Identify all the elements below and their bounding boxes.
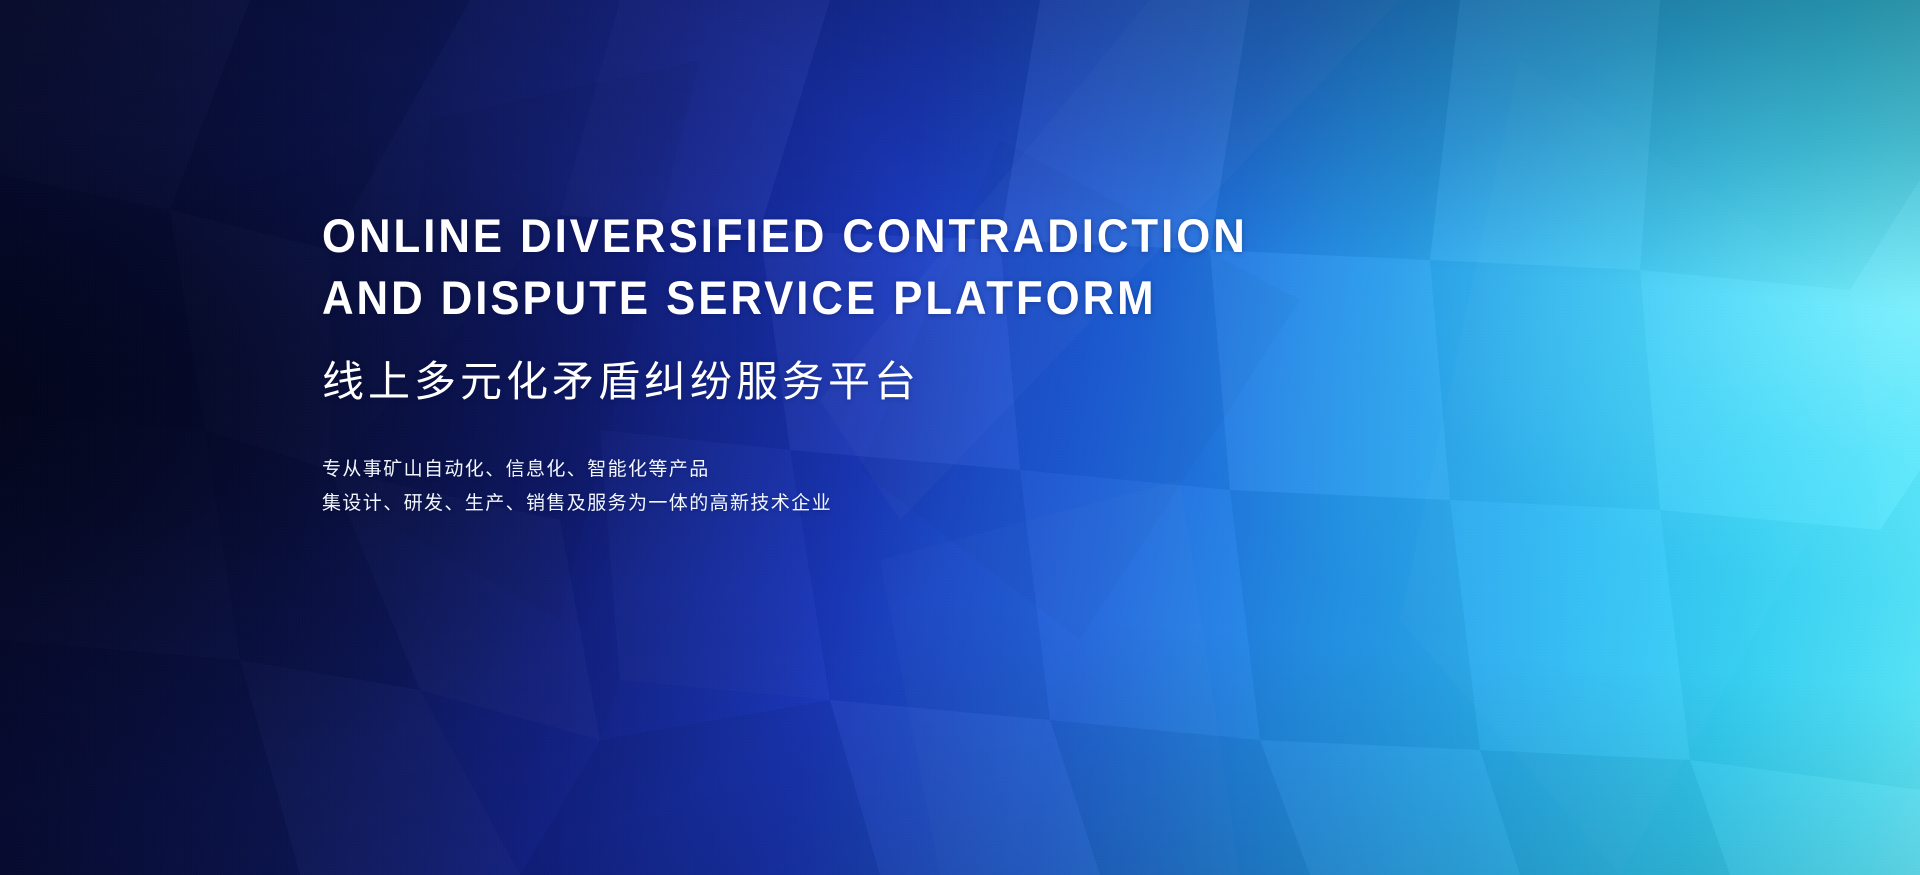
hero-banner: ONLINE DIVERSIFIED CONTRADICTION AND DIS… [0, 0, 1920, 875]
headline-english-line-1: ONLINE DIVERSIFIED CONTRADICTION [322, 205, 1438, 267]
description-line-1: 专从事矿山自动化、信息化、智能化等产品 [322, 453, 1522, 487]
hero-content: ONLINE DIVERSIFIED CONTRADICTION AND DIS… [322, 205, 1522, 521]
description-line-2: 集设计、研发、生产、销售及服务为一体的高新技术企业 [322, 487, 1522, 521]
headline-chinese: 线上多元化矛盾纠纷服务平台 [322, 353, 1522, 411]
headline-english-line-2: AND DISPUTE SERVICE PLATFORM [322, 267, 1438, 329]
description-block: 专从事矿山自动化、信息化、智能化等产品 集设计、研发、生产、销售及服务为一体的高… [322, 453, 1522, 521]
